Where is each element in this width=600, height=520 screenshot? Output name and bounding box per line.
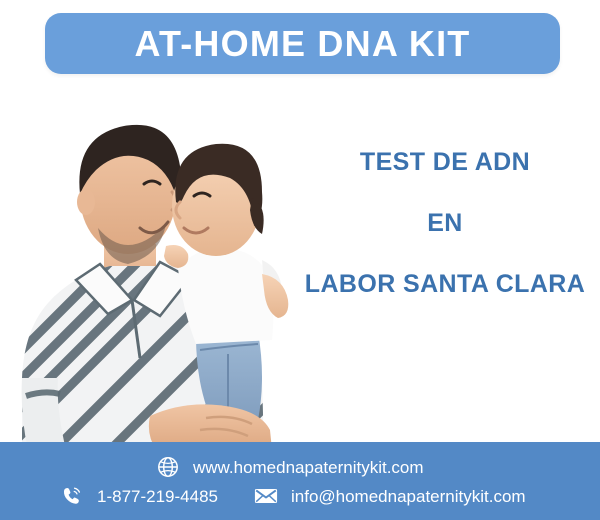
footer-website-row: www.homednapaternitykit.com: [156, 455, 424, 479]
phone-item[interactable]: 1-877-219-4485: [60, 484, 218, 508]
phone-text: 1-877-219-4485: [97, 488, 218, 505]
headline-line-1: TEST DE ADN: [300, 150, 590, 175]
contact-footer: www.homednapaternitykit.com 1-877-219-44…: [0, 442, 600, 520]
website-text: www.homednapaternitykit.com: [193, 459, 424, 476]
email-item[interactable]: info@homednapaternitykit.com: [254, 484, 526, 508]
header-banner: AT-HOME DNA KIT: [45, 13, 560, 74]
phone-icon: [60, 484, 84, 508]
page-title: AT-HOME DNA KIT: [135, 26, 471, 62]
headline-line-3: LABOR SANTA CLARA: [300, 272, 590, 297]
father-and-child-photo: [0, 78, 300, 450]
footer-contact-row: 1-877-219-4485 info@homednapaternitykit.…: [60, 484, 526, 508]
email-text: info@homednapaternitykit.com: [291, 488, 526, 505]
website-item[interactable]: www.homednapaternitykit.com: [156, 455, 424, 479]
headline-block: TEST DE ADN EN LABOR SANTA CLARA: [300, 150, 590, 297]
envelope-icon: [254, 484, 278, 508]
globe-icon: [156, 455, 180, 479]
headline-line-2: EN: [300, 211, 590, 236]
promo-banner: AT-HOME DNA KIT: [0, 0, 600, 520]
